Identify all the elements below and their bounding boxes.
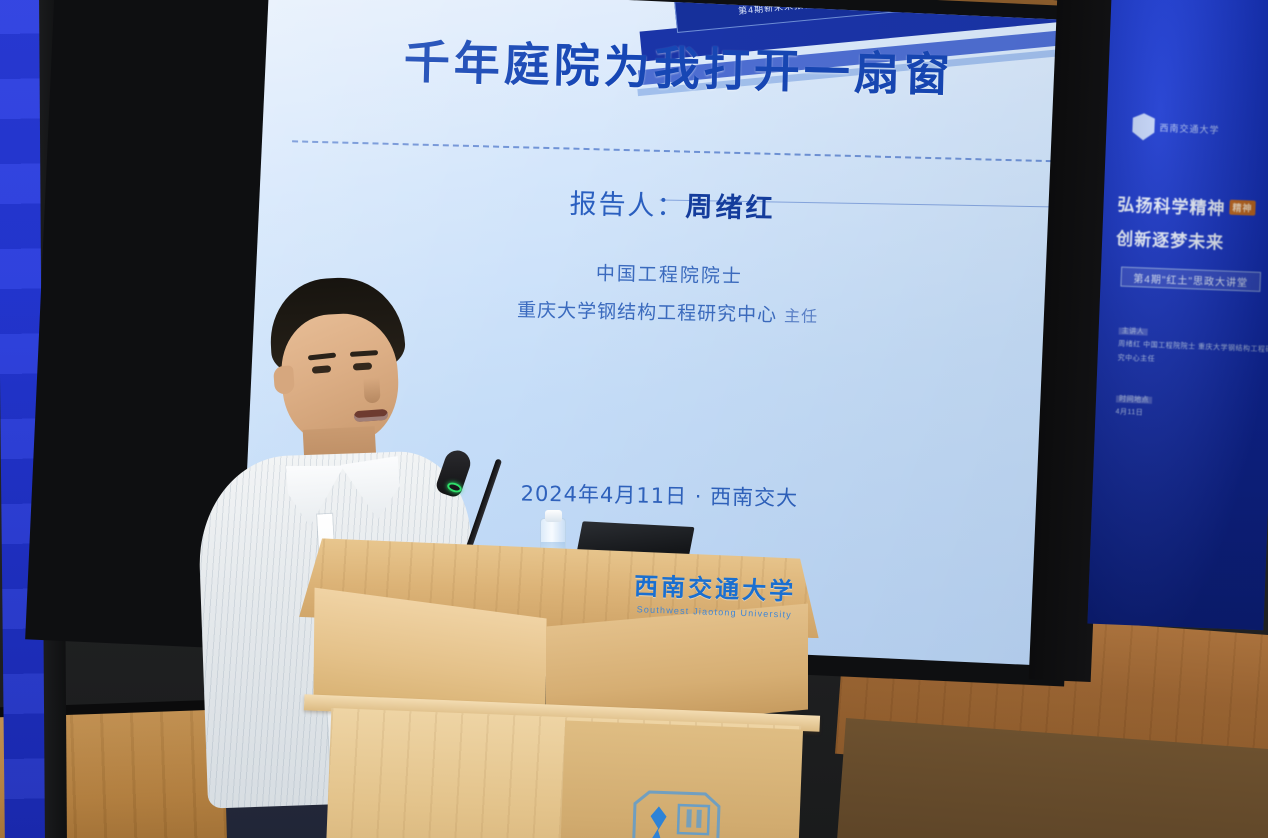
poster-meta-speaker: 主讲人 周绪红 中国工程院院士 重庆大学钢结构工程研究中心主任 bbox=[1117, 325, 1268, 371]
slide-dashed-rule bbox=[292, 140, 1062, 162]
slide-affiliation-org: 重庆大学钢结构工程研究中心 bbox=[517, 299, 777, 326]
slide-title: 千年庭院为我打开一扇窗 bbox=[265, 22, 1092, 108]
poster-meta-time-body: 4月11日 bbox=[1115, 409, 1143, 417]
slide-affiliation-role: 主任 bbox=[784, 306, 818, 326]
poster-headline-chip: 精神 bbox=[1229, 200, 1256, 216]
slide-presenter-line: 报告人：周绪红 bbox=[259, 174, 1086, 233]
speaker-nose bbox=[363, 378, 380, 404]
poster-meta-speaker-body: 周绪红 中国工程院院士 重庆大学钢结构工程研究中心主任 bbox=[1118, 341, 1268, 363]
poster-meta-time: 时间地点 4月11日 bbox=[1115, 392, 1152, 420]
event-poster: 西南交通大学 弘扬科学精神 精神 创新逐梦未来 第4期"红土"思政大讲堂 主讲人… bbox=[1087, 0, 1268, 630]
lectern-university-name-cn: 西南交通大学 bbox=[620, 566, 811, 608]
shield-icon bbox=[1132, 113, 1155, 141]
water-bottle-cap bbox=[545, 510, 562, 522]
lectern-university-branding: 西南交通大学 Southwest Jiaotong University bbox=[619, 566, 811, 621]
poster-meta-speaker-title: 主讲人 bbox=[1119, 328, 1148, 336]
speaker-eye-right bbox=[353, 362, 372, 370]
lecture-hall-scene: 第4期新未来报告会暨"红土"思政大讲堂 千年庭院为我打开一扇窗 报告人：周绪红 … bbox=[0, 0, 1268, 838]
lectern: 西南交通大学 Southwest Jiaotong University bbox=[300, 545, 860, 838]
poster-logo-text: 西南交通大学 bbox=[1159, 121, 1219, 136]
poster-meta-time-title: 时间地点 bbox=[1116, 395, 1152, 403]
poster-subtitle: 第4期"红土"思政大讲堂 bbox=[1120, 267, 1261, 292]
poster-headline-second: 创新逐梦未来 bbox=[1116, 224, 1267, 255]
speaker-mouth bbox=[354, 409, 389, 422]
slide-presenter-label: 报告人： bbox=[569, 189, 686, 223]
university-crest-icon bbox=[626, 785, 725, 838]
poster-headline-first: 弘扬科学精神 精神 bbox=[1117, 190, 1268, 221]
slide-presenter-name: 周绪红 bbox=[685, 192, 776, 225]
poster-university-logo: 西南交通大学 bbox=[1132, 113, 1220, 143]
poster-headline-first-text: 弘扬科学精神 bbox=[1117, 190, 1226, 219]
speaker-ear bbox=[273, 365, 295, 394]
